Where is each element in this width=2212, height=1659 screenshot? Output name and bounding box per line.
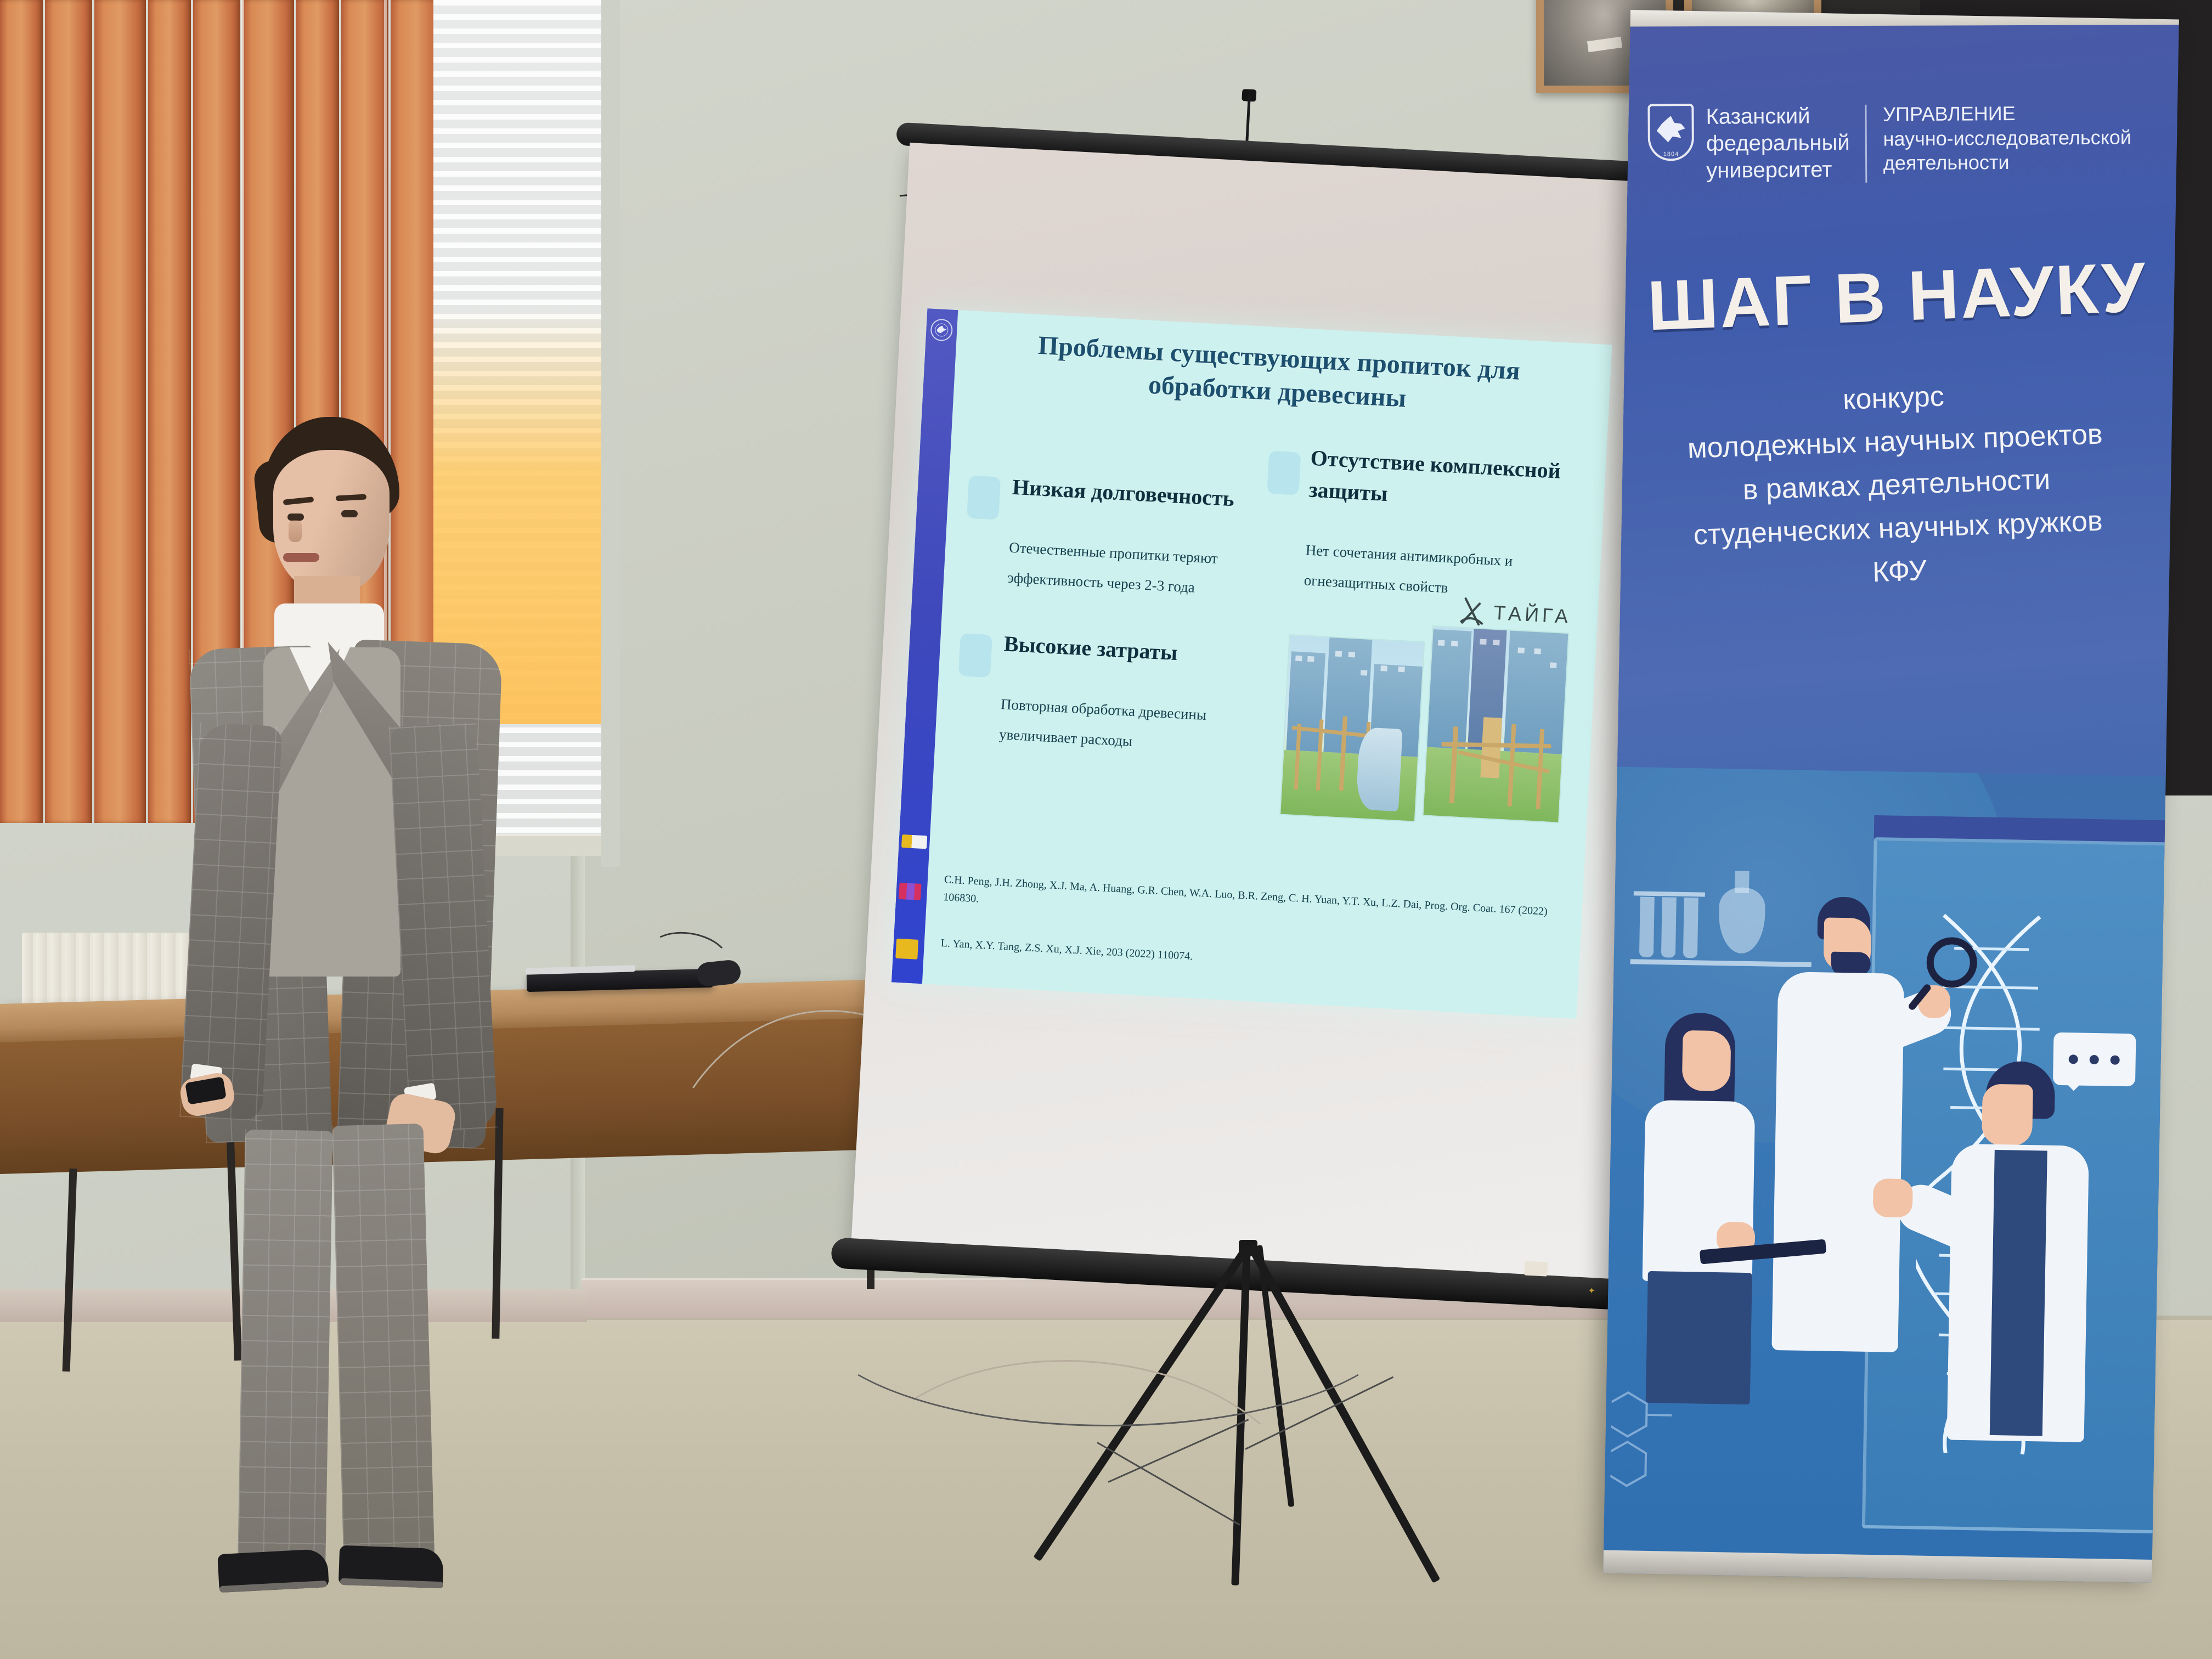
horizontal-blind-slat [433, 14, 609, 20]
horizontal-blind-slat [433, 86, 609, 91]
banner-university-name: Казанский федеральный университет [1706, 103, 1850, 184]
banner-divider [1865, 105, 1867, 183]
horizontal-blind-slat [433, 100, 609, 105]
presenter-eye-right [341, 510, 358, 517]
horizontal-blind-slat [433, 214, 609, 219]
crest-year: 1804 [1648, 151, 1694, 158]
blind-slat [45, 0, 92, 823]
slide-bullet-heading-1: Низкая долговечность [1012, 471, 1298, 518]
banner-department-name: УПРАВЛЕНИЕ научно-исследовательской деят… [1883, 100, 2131, 176]
slide-bullet-heading-3: Высокие затраты [1003, 628, 1290, 675]
banner-header: 1804 Казанский федеральный университет У… [1647, 100, 2142, 184]
presenter [181, 417, 532, 1459]
slide-citation-2: L. Yan, X.Y. Tang, Z.S. Xu, X.J. Xie, 20… [940, 934, 1560, 985]
horizontal-blind-slat [433, 157, 609, 162]
screen-hanger-hook [1239, 89, 1256, 144]
presenter-trouser-right [332, 1124, 435, 1570]
horizontal-blind-slat [433, 228, 609, 234]
horizontal-blind-slat [433, 57, 609, 63]
student-male-shirt [1990, 1150, 2047, 1436]
slide-bullet-body-1: Отечественные пропитки теряют эффективно… [1007, 533, 1295, 608]
horizontal-blind-slat [433, 143, 609, 148]
projection-screen-assembly: Проблемы существующих пропиток для обраб… [849, 126, 1689, 1335]
taiga-wordmark: ТАЙГА [1493, 601, 1572, 628]
presenter-sweater [263, 647, 400, 977]
student-female-face [1682, 1030, 1731, 1092]
presenter-mouth [283, 553, 319, 562]
horizontal-blind-slat [433, 43, 609, 48]
pine-tree-icon [1457, 595, 1489, 628]
banner-illustration [1603, 767, 2166, 1583]
horizontal-blind-slat [433, 171, 609, 177]
blind-slat [94, 0, 146, 823]
horizontal-blind-slat [433, 271, 609, 276]
banner-headline: ШАГ В НАУКУ [1646, 246, 2159, 347]
slide-bullet-chip-3 [958, 633, 992, 678]
scene-photograph: Проблемы существующих пропиток для обраб… [0, 0, 2212, 1659]
horizontal-blind-slat [433, 285, 609, 291]
chat-bubble-icon [2053, 1032, 2136, 1087]
floor-cable-dark [806, 1196, 1410, 1426]
horizontal-blind-slat [433, 257, 609, 262]
kfu-shield-icon: 1804 [1647, 104, 1694, 161]
slide-bullet-chip-1 [967, 476, 1001, 520]
slide-title: Проблемы существующих пропиток для обраб… [983, 326, 1573, 425]
presenter-nose [289, 520, 302, 542]
horizontal-blind-slat [433, 0, 609, 5]
test-tube-2 [1661, 897, 1677, 957]
slide-bullet-chip-2 [1267, 451, 1301, 495]
screen-brand-mark: ✦ [1588, 1285, 1596, 1297]
horizontal-blind-slat [433, 185, 609, 191]
horizontal-blind-slat [433, 242, 609, 248]
blind-slat [0, 0, 43, 823]
horizontal-blind-slat [433, 200, 609, 205]
slide-bullet-heading-2: Отсутствие комплексной защиты [1308, 442, 1596, 521]
slide-bullet-body-3: Повторная обработка древесины увеличивае… [998, 689, 1286, 765]
presentation-slide: Проблемы существующих пропиток для обраб… [891, 308, 1612, 1019]
slide-photo-playground-1 [1279, 634, 1425, 822]
student-male-hand-pointing [1873, 1178, 1913, 1217]
horizontal-blind-slat [433, 29, 609, 34]
horizontal-blind-slat [433, 300, 609, 305]
rollup-banner: 1804 Казанский федеральный университет У… [1603, 10, 2179, 1583]
qs-stars-logo-icon [901, 834, 927, 849]
banner-subtitle: конкурс молодежных научных проектов в ра… [1629, 368, 2163, 602]
student-male-face [1982, 1084, 2033, 1147]
the-rankings-logo-icon [899, 883, 922, 900]
screen-sticker [1524, 1261, 1548, 1276]
horizontal-blind-slat [433, 114, 609, 120]
slide-photo-playground-2 [1422, 625, 1569, 823]
screen-surface: Проблемы существующих пропиток для обраб… [851, 143, 1688, 1291]
presenter-trouser-left [238, 1130, 333, 1570]
horizontal-blind-slat [433, 128, 609, 134]
horizontal-blind-slat [433, 71, 609, 77]
student-female-skirt [1646, 1271, 1752, 1404]
test-tube-1 [1639, 897, 1655, 957]
qs-logo-icon [895, 939, 918, 960]
test-tube-3 [1683, 898, 1699, 958]
window-frame [601, 0, 620, 867]
slide-citation-1: C.H. Peng, J.H. Zhong, X.J. Ma, A. Huang… [943, 871, 1564, 939]
